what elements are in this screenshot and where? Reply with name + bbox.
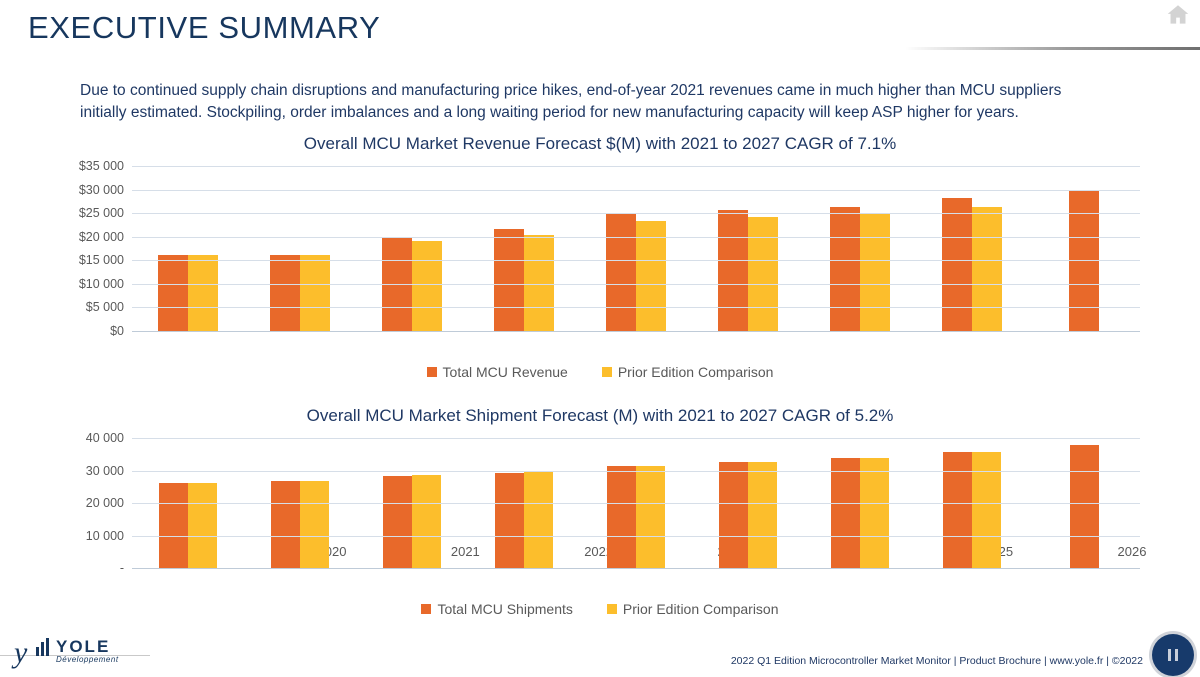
y-axis-tick-label: $25 000 (79, 206, 124, 220)
bar (718, 210, 748, 331)
intro-paragraph: Due to continued supply chain disruption… (80, 80, 1110, 124)
yole-logo: y YOLE Développement (14, 632, 134, 668)
y-axis-tick-label: $15 000 (79, 253, 124, 267)
bar (748, 462, 777, 568)
bar (495, 473, 524, 568)
plot (132, 166, 1140, 331)
legend-label: Prior Edition Comparison (618, 364, 774, 380)
y-axis-tick-label: $30 000 (79, 183, 124, 197)
bar (719, 462, 748, 568)
logo-bars-icon (36, 638, 51, 656)
bar (636, 466, 665, 568)
legend-item[interactable]: Prior Edition Comparison (607, 601, 779, 617)
legend-swatch (427, 367, 437, 377)
legend-label: Total MCU Revenue (443, 364, 568, 380)
y-axis-tick-label: $35 000 (79, 159, 124, 173)
legend-label: Prior Edition Comparison (623, 601, 779, 617)
bar (606, 214, 636, 331)
bar (188, 483, 217, 568)
bar (494, 229, 524, 331)
bar-group (356, 166, 468, 331)
legend: Total MCU RevenuePrior Edition Compariso… (0, 364, 1200, 380)
bar-group (132, 166, 244, 331)
bar (972, 452, 1001, 568)
logo-name: YOLE (56, 637, 110, 657)
bar (270, 255, 300, 331)
gridline (132, 237, 1140, 238)
gridline (132, 190, 1140, 191)
bar (158, 255, 188, 331)
plot (132, 438, 1140, 568)
legend-item[interactable]: Prior Edition Comparison (602, 364, 774, 380)
y-axis-tick-label: 40 000 (86, 431, 124, 445)
bar (412, 241, 442, 331)
bar (1070, 445, 1099, 568)
bar (300, 481, 329, 568)
bar (943, 452, 972, 568)
header-divider (905, 47, 1200, 50)
bar (159, 483, 188, 568)
gridline (132, 536, 1140, 537)
bar (942, 198, 972, 331)
bar (860, 458, 889, 568)
bar-group (1028, 166, 1140, 331)
bar (188, 255, 218, 331)
gridline (132, 568, 1140, 569)
bar-group (692, 166, 804, 331)
gridline (132, 331, 1140, 332)
chart-title: Overall MCU Market Revenue Forecast $(M)… (0, 134, 1200, 154)
revenue-chart: Overall MCU Market Revenue Forecast $(M)… (0, 134, 1200, 380)
bar (607, 466, 636, 568)
bar-group (468, 166, 580, 331)
plot-area: $35 000$30 000$25 000$20 000$15 000$10 0… (0, 166, 1200, 331)
legend-swatch (602, 367, 612, 377)
legend-swatch (421, 604, 431, 614)
shipment-chart: Overall MCU Market Shipment Forecast (M)… (0, 406, 1200, 617)
bar-group (804, 166, 916, 331)
legend: Total MCU ShipmentsPrior Edition Compari… (0, 601, 1200, 617)
bar (831, 458, 860, 568)
chart-title: Overall MCU Market Shipment Forecast (M)… (0, 406, 1200, 426)
gridline (132, 284, 1140, 285)
legend-item[interactable]: Total MCU Revenue (427, 364, 568, 380)
y-axis-tick-label: 10 000 (86, 529, 124, 543)
y-axis-tick-label: $10 000 (79, 277, 124, 291)
page-title: EXECUTIVE SUMMARY (28, 10, 380, 46)
slide: EXECUTIVE SUMMARY Due to continued suppl… (0, 0, 1200, 677)
y-axis-tick-label: - (120, 561, 124, 575)
pause-icon-bar (1168, 649, 1171, 661)
y-axis: 40 00030 00020 00010 000- (0, 438, 132, 568)
bar (830, 207, 860, 331)
plot-area: 40 00030 00020 00010 000- (0, 438, 1200, 568)
bar (860, 213, 890, 331)
pause-button[interactable] (1152, 634, 1194, 676)
bar (412, 475, 441, 568)
bar-groups (132, 166, 1140, 331)
legend-item[interactable]: Total MCU Shipments (421, 601, 572, 617)
bar (972, 207, 1002, 331)
home-icon[interactable] (1164, 2, 1192, 28)
bar (271, 481, 300, 568)
pause-icon-bar (1175, 649, 1178, 661)
gridline (132, 307, 1140, 308)
legend-label: Total MCU Shipments (437, 601, 572, 617)
y-axis-tick-label: $5 000 (86, 300, 124, 314)
gridline (132, 471, 1140, 472)
bar (748, 217, 778, 331)
bar-group (244, 166, 356, 331)
bar (300, 255, 330, 331)
gridline (132, 503, 1140, 504)
logo-subtitle: Développement (56, 655, 119, 664)
logo-mark: y (14, 636, 27, 670)
gridline (132, 438, 1140, 439)
y-axis-tick-label: $0 (110, 324, 124, 338)
gridline (132, 260, 1140, 261)
y-axis-tick-label: $20 000 (79, 230, 124, 244)
bar (524, 472, 553, 568)
y-axis-tick-label: 30 000 (86, 464, 124, 478)
bar-group (580, 166, 692, 331)
bar-group (916, 166, 1028, 331)
footer-note: 2022 Q1 Edition Microcontroller Market M… (731, 655, 1143, 667)
legend-swatch (607, 604, 617, 614)
gridline (132, 213, 1140, 214)
y-axis: $35 000$30 000$25 000$20 000$15 000$10 0… (0, 166, 132, 331)
gridline (132, 166, 1140, 167)
y-axis-tick-label: 20 000 (86, 496, 124, 510)
bar (383, 476, 412, 568)
